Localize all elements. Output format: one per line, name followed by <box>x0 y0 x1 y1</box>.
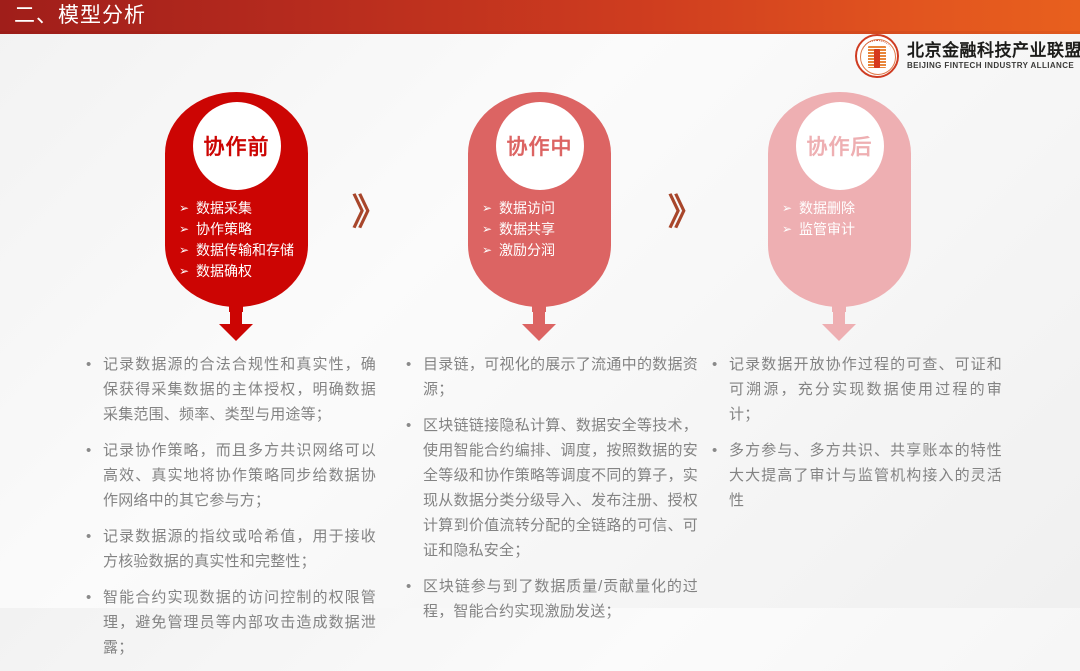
detail-text: 记录协作策略，而且多方共识网络可以高效、真实地将协作策略同步给数据协作网络中的其… <box>103 438 376 513</box>
list-item-label: 数据共享 <box>499 219 555 240</box>
stage-item-list: ➢ 数据删除 ➢ 监管审计 <box>782 198 905 240</box>
arrow-head <box>522 324 556 341</box>
organization-logo: 北京金融科技产业联盟 BEIJING FINTECH INDUSTRY ALLI… <box>855 31 1070 81</box>
stage-title-circle: 协作后 <box>796 102 884 190</box>
detail-text: 多方参与、多方共识、共享账本的特性大大提高了审计与监管机构接入的灵活性 <box>729 438 1002 513</box>
list-item: ➢ 数据共享 <box>482 219 605 240</box>
stage-capsule-after: 协作后 ➢ 数据删除 ➢ 监管审计 <box>768 92 911 307</box>
stage-item-list: ➢ 数据访问 ➢ 数据共享 ➢ 激励分润 <box>482 198 605 261</box>
list-item: ➢ 激励分润 <box>482 240 605 261</box>
arrow-bullet-icon: ➢ <box>179 219 196 240</box>
detail-paragraph: • 目录链，可视化的展示了流通中的数据资源； <box>406 352 698 402</box>
detail-paragraph: • 多方参与、多方共识、共享账本的特性大大提高了审计与监管机构接入的灵活性 <box>712 438 1002 513</box>
detail-paragraph: • 区块链参与到了数据质量/贡献量化的过程，智能合约实现激励发送； <box>406 574 698 624</box>
detail-text: 区块链参与到了数据质量/贡献量化的过程，智能合约实现激励发送； <box>423 574 698 624</box>
list-item: ➢ 协作策略 <box>179 219 302 240</box>
detail-paragraph: • 记录数据源的指纹或哈希值，用于接收方核验数据的真实性和完整性； <box>86 524 376 574</box>
list-item: ➢ 数据确权 <box>179 261 302 282</box>
alliance-emblem-icon <box>855 34 899 78</box>
detail-text: 智能合约实现数据的访问控制的权限管理，避免管理员等内部攻击造成数据泄露； <box>103 585 376 660</box>
emblem-building-bars <box>868 46 886 68</box>
list-item-label: 数据删除 <box>799 198 855 219</box>
detail-text: 记录数据源的指纹或哈希值，用于接收方核验数据的真实性和完整性； <box>103 524 376 574</box>
arrow-head <box>219 324 253 341</box>
logo-name-cn: 北京金融科技产业联盟 <box>907 41 1080 60</box>
page-header-bar <box>0 0 1080 31</box>
down-arrow-icon <box>219 309 253 341</box>
detail-column-during: • 目录链，可视化的展示了流通中的数据资源； • 区块链链接隐私计算、数据安全等… <box>406 352 698 635</box>
detail-paragraph: • 记录协作策略，而且多方共识网络可以高效、真实地将协作策略同步给数据协作网络中… <box>86 438 376 513</box>
bullet-dot-icon: • <box>406 352 423 377</box>
bullet-dot-icon: • <box>86 524 103 549</box>
bullet-dot-icon: • <box>406 574 423 599</box>
detail-text: 区块链链接隐私计算、数据安全等技术，使用智能合约编排、调度，按照数据的安全等级和… <box>423 413 698 563</box>
list-item: ➢ 数据传输和存储 <box>179 240 302 261</box>
stage-capsule-before: 协作前 ➢ 数据采集 ➢ 协作策略 ➢ 数据传输和存储 ➢ 数据确权 <box>165 92 308 307</box>
list-item-label: 数据确权 <box>196 261 252 282</box>
arrow-head <box>822 324 856 341</box>
bullet-dot-icon: • <box>712 438 729 463</box>
stage-item-list: ➢ 数据采集 ➢ 协作策略 ➢ 数据传输和存储 ➢ 数据确权 <box>179 198 302 282</box>
detail-paragraph: • 智能合约实现数据的访问控制的权限管理，避免管理员等内部攻击造成数据泄露； <box>86 585 376 660</box>
list-item-label: 数据采集 <box>196 198 252 219</box>
stage-title-circle: 协作前 <box>193 102 281 190</box>
logo-text-block: 北京金融科技产业联盟 BEIJING FINTECH INDUSTRY ALLI… <box>907 41 1080 72</box>
detail-text: 目录链，可视化的展示了流通中的数据资源； <box>423 352 698 402</box>
list-item: ➢ 监管审计 <box>782 219 905 240</box>
flow-connector-chevron-1: 》 <box>352 192 385 232</box>
arrow-shaft <box>230 309 242 325</box>
arrow-shaft <box>533 309 545 325</box>
stage-capsule-during: 协作中 ➢ 数据访问 ➢ 数据共享 ➢ 激励分润 <box>468 92 611 307</box>
stage-title: 协作中 <box>507 131 573 161</box>
stage-title: 协作后 <box>807 131 873 161</box>
list-item-label: 协作策略 <box>196 219 252 240</box>
arrow-shaft <box>833 309 845 325</box>
stage-title-circle: 协作中 <box>496 102 584 190</box>
arrow-bullet-icon: ➢ <box>782 219 799 240</box>
logo-name-en: BEIJING FINTECH INDUSTRY ALLIANCE <box>907 60 1080 72</box>
list-item: ➢ 数据采集 <box>179 198 302 219</box>
bullet-dot-icon: • <box>406 413 423 438</box>
detail-text: 记录数据开放协作过程的可查、可证和可溯源，充分实现数据使用过程的审计； <box>729 352 1002 427</box>
list-item-label: 激励分润 <box>499 240 555 261</box>
arrow-bullet-icon: ➢ <box>782 198 799 219</box>
arrow-bullet-icon: ➢ <box>482 198 499 219</box>
arrow-bullet-icon: ➢ <box>482 219 499 240</box>
bullet-dot-icon: • <box>86 585 103 610</box>
detail-text: 记录数据源的合法合规性和真实性，确保获得采集数据的主体授权，明确数据采集范围、频… <box>103 352 376 427</box>
down-arrow-icon <box>522 309 556 341</box>
bullet-dot-icon: • <box>712 352 729 377</box>
list-item: ➢ 数据访问 <box>482 198 605 219</box>
bullet-dot-icon: • <box>86 438 103 463</box>
bullet-dot-icon: • <box>86 352 103 377</box>
detail-paragraph: • 记录数据开放协作过程的可查、可证和可溯源，充分实现数据使用过程的审计； <box>712 352 1002 427</box>
stage-title: 协作前 <box>204 131 270 161</box>
list-item-label: 监管审计 <box>799 219 855 240</box>
page-title: 二、模型分析 <box>14 2 146 30</box>
detail-paragraph: • 记录数据源的合法合规性和真实性，确保获得采集数据的主体授权，明确数据采集范围… <box>86 352 376 427</box>
list-item-label: 数据传输和存储 <box>196 240 294 261</box>
list-item-label: 数据访问 <box>499 198 555 219</box>
detail-paragraph: • 区块链链接隐私计算、数据安全等技术，使用智能合约编排、调度，按照数据的安全等… <box>406 413 698 563</box>
list-item: ➢ 数据删除 <box>782 198 905 219</box>
detail-column-before: • 记录数据源的合法合规性和真实性，确保获得采集数据的主体授权，明确数据采集范围… <box>86 352 376 671</box>
flow-connector-chevron-2: 》 <box>668 192 701 232</box>
down-arrow-icon <box>822 309 856 341</box>
detail-column-after: • 记录数据开放协作过程的可查、可证和可溯源，充分实现数据使用过程的审计； • … <box>712 352 1002 524</box>
arrow-bullet-icon: ➢ <box>179 198 196 219</box>
arrow-bullet-icon: ➢ <box>179 261 196 282</box>
arrow-bullet-icon: ➢ <box>482 240 499 261</box>
arrow-bullet-icon: ➢ <box>179 240 196 261</box>
